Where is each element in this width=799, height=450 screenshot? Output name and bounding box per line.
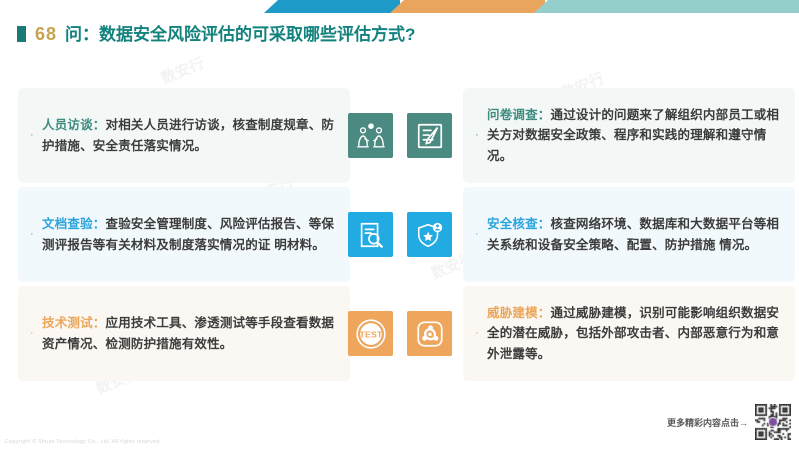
card-lead: 文档查验：	[42, 217, 106, 231]
card-text: 技术测试：应用技术工具、渗透测试等手段查看数据资产情况、检测防护措施有效性。	[42, 313, 340, 354]
card-threat-modeling[interactable]: · 威胁建模：通过威胁建模，识别可能影响组织数据安全的潜在威胁，包括外部攻击者、…	[463, 286, 795, 381]
card-text: 威胁建模：通过威胁建模，识别可能影响组织数据安全的潜在威胁，包括外部攻击者、内部…	[487, 303, 785, 364]
banner-band-teal	[534, 0, 799, 13]
card-lead: 威胁建模：	[487, 306, 551, 320]
qr-code[interactable]	[755, 404, 791, 440]
card-lead: 问卷调查：	[487, 108, 551, 122]
bullet-marker: ·	[30, 225, 42, 243]
cta-block[interactable]: 更多精彩内容点击→	[667, 404, 791, 440]
question-title: 问：数据安全风险评估的可采取哪些评估方式?	[65, 26, 415, 43]
content-row: · 文档查验：查验安全管理制度、风险评估报告、等保测评报告等有关材料及制度落实情…	[0, 187, 799, 282]
card-text: 人员访谈：对相关人员进行访谈，核查制度规章、防护措施、安全责任落实情况。	[42, 115, 340, 156]
icon-pair	[337, 88, 463, 183]
card-lead: 人员访谈：	[42, 118, 106, 132]
card-questionnaire[interactable]: · 问卷调查：通过设计的问题来了解组织内部员工或相关方对数据安全政策、程序和实践…	[463, 88, 795, 183]
card-technical-test[interactable]: · 技术测试：应用技术工具、渗透测试等手段查看数据资产情况、检测防护措施有效性。	[18, 286, 350, 381]
cta-label: 更多精彩内容点击→	[667, 416, 748, 429]
watermark: 数安行	[158, 52, 208, 88]
bullet-marker: ·	[30, 126, 42, 144]
card-personnel-interview[interactable]: · 人员访谈：对相关人员进行访谈，核查制度规章、防护措施、安全责任落实情况。	[18, 88, 350, 183]
icon-pair	[337, 187, 463, 282]
bullet-marker: ·	[475, 126, 487, 144]
content-row: · 技术测试：应用技术工具、渗透测试等手段查看数据资产情况、检测防护措施有效性。…	[0, 286, 799, 381]
icon-pair: TEST	[337, 286, 463, 381]
card-text: 文档查验：查验安全管理制度、风险评估报告、等保测评报告等有关材料及制度落实情况的…	[42, 214, 340, 255]
card-lead: 技术测试：	[42, 316, 106, 330]
card-text: 问卷调查：通过设计的问题来了解组织内部员工或相关方对数据安全政策、程序和实践的理…	[487, 105, 785, 166]
document-search-icon	[348, 212, 393, 257]
content-rows: · 人员访谈：对相关人员进行访谈，核查制度规章、防护措施、安全责任落实情况。	[0, 88, 799, 385]
test-badge-icon: TEST	[348, 311, 393, 356]
copyright-notice: Copyright © Shuze Technology Co., Ltd. A…	[5, 439, 161, 445]
bullet-marker: ·	[475, 324, 487, 342]
card-text: 安全核查：核查网络环境、数据库和大数据平台等相关系统和设备安全策略、配置、防护措…	[487, 214, 785, 255]
banner-band-orange	[390, 0, 545, 13]
title-marker	[17, 26, 26, 42]
top-decorative-banner	[0, 0, 799, 13]
questionnaire-form-icon	[407, 113, 452, 158]
interview-people-icon	[348, 113, 393, 158]
question-number: 68	[35, 25, 57, 43]
card-security-audit[interactable]: · 安全核查：核查网络环境、数据库和大数据平台等相关系统和设备安全策略、配置、防…	[463, 187, 795, 282]
card-document-review[interactable]: · 文档查验：查验安全管理制度、风险评估报告、等保测评报告等有关材料及制度落实情…	[18, 187, 350, 282]
bullet-marker: ·	[475, 225, 487, 243]
card-lead: 安全核查：	[487, 217, 551, 231]
content-row: · 人员访谈：对相关人员进行访谈，核查制度规章、防护措施、安全责任落实情况。	[0, 88, 799, 183]
bullet-marker: ·	[30, 324, 42, 342]
banner-band-blue	[264, 0, 400, 13]
page-title: 68 问：数据安全风险评估的可采取哪些评估方式?	[17, 20, 415, 48]
svg-text:TEST: TEST	[359, 329, 383, 339]
shield-star-icon	[407, 212, 452, 257]
threat-model-nodes-icon	[407, 311, 452, 356]
